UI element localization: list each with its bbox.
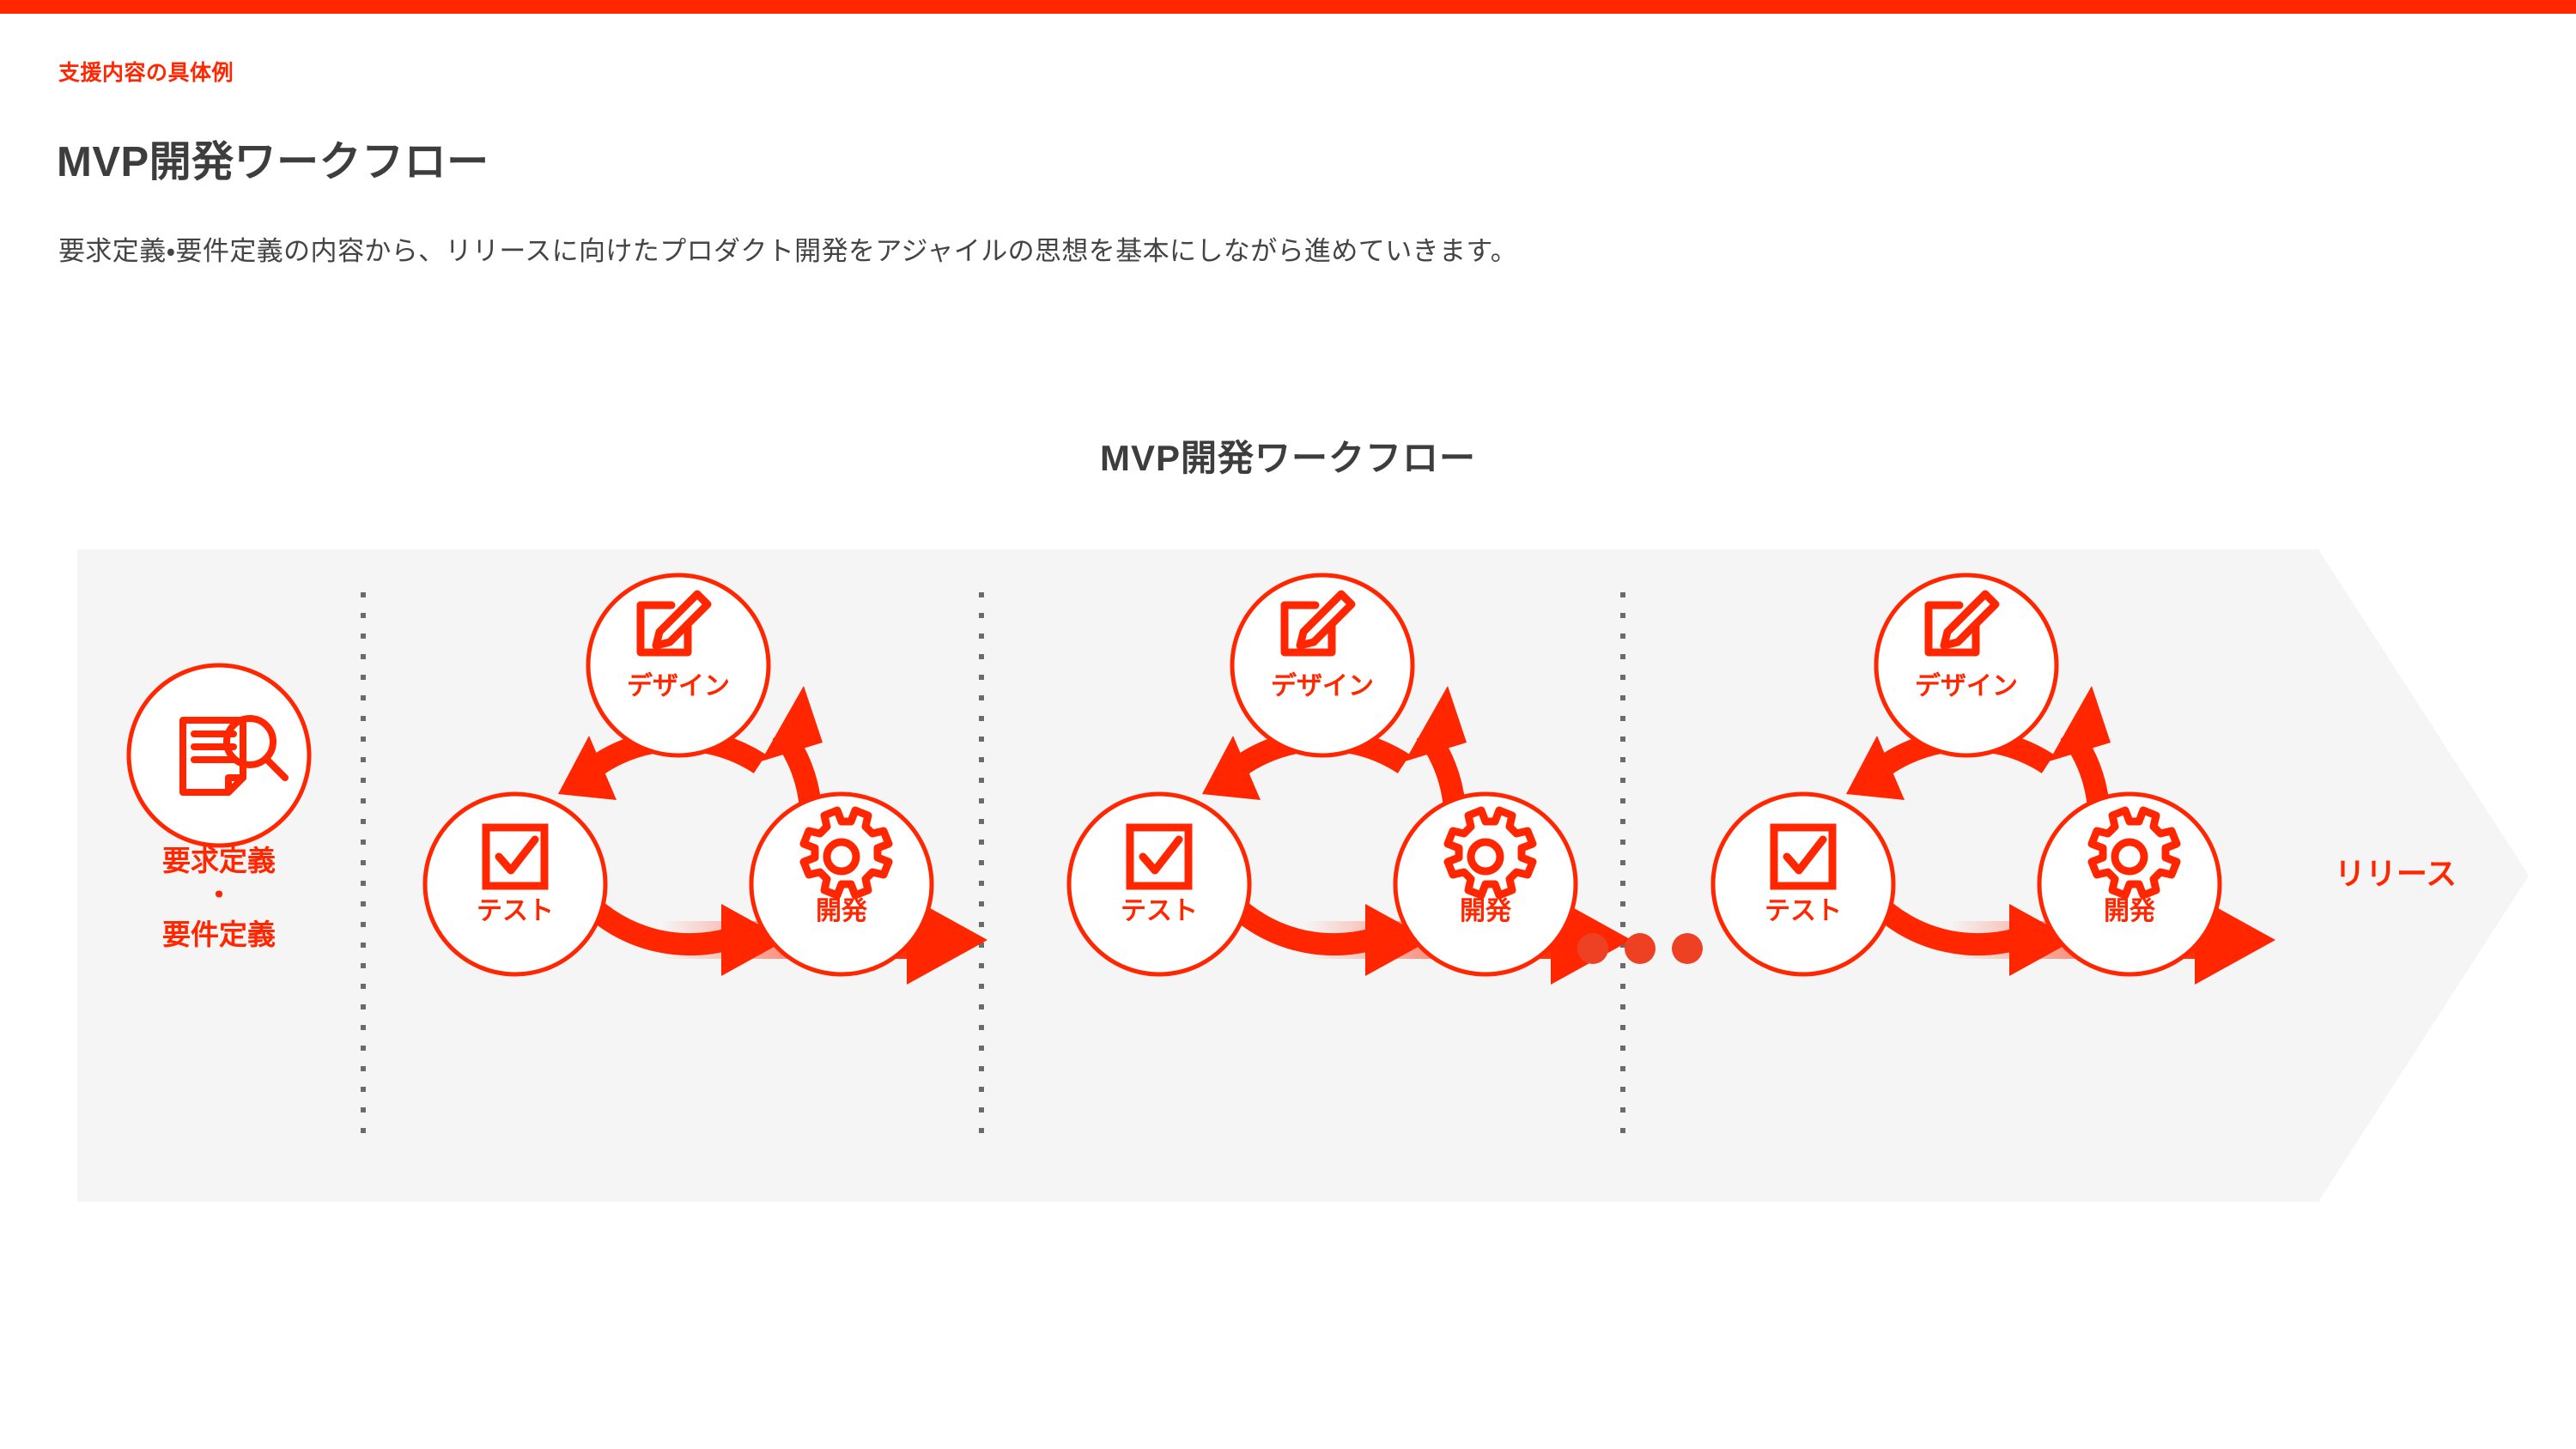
requirements-icon-circle xyxy=(129,665,309,846)
ellipsis-dots xyxy=(1577,933,1703,964)
top-accent-bar xyxy=(0,0,2576,14)
requirements-label-line1: 要求定義 xyxy=(162,845,276,876)
page-description: 要求定義・要件定義の内容から、リリースに向けたプロダクト開発をアジャイルの思想を… xyxy=(58,232,1517,272)
page-title: MVP開発ワークフロー xyxy=(57,137,489,188)
requirements-label-line2: 要件定義 xyxy=(162,919,276,950)
release-label: リリース xyxy=(2335,856,2457,891)
requirements-label-separator: ・ xyxy=(205,879,234,911)
workflow-diagram: デザイン テスト 開発 xyxy=(0,378,2576,1236)
slide-page: 支援内容の具体例 MVP開発ワークフロー 要求定義・要件定義の内容から、リリース… xyxy=(0,0,2576,1449)
eyebrow-label: 支援内容の具体例 xyxy=(58,60,234,86)
diagram-container: MVP開発ワークフロー xyxy=(0,378,2576,1236)
